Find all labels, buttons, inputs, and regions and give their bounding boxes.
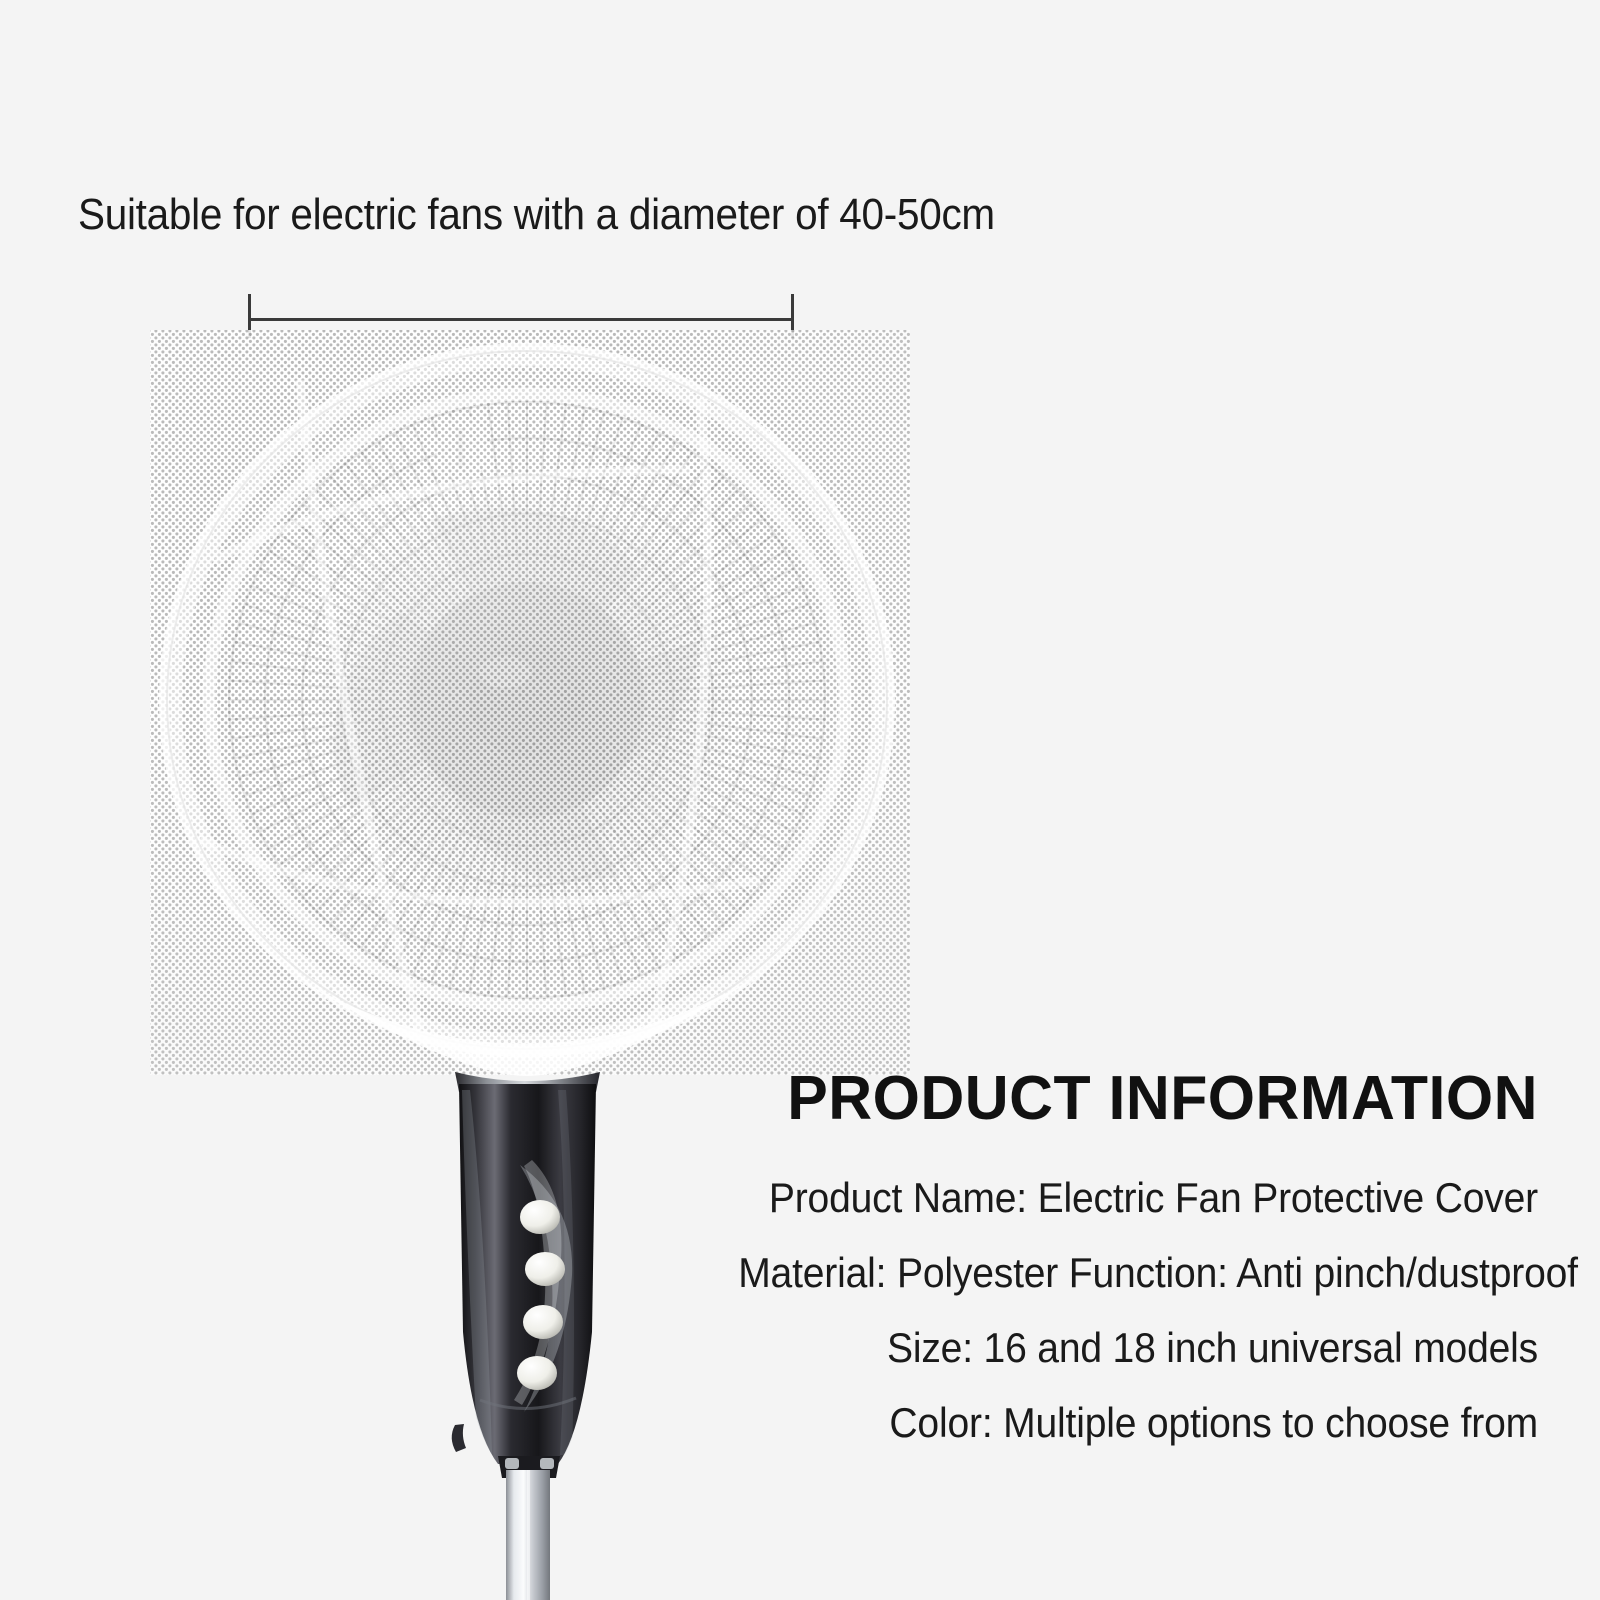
product-information-block: PRODUCT INFORMATION Product Name: Electr…	[678, 1062, 1538, 1460]
housing-stud-right	[540, 1458, 554, 1469]
bracket-tick-right	[791, 294, 794, 338]
mesh-protective-cover	[150, 330, 910, 1075]
fan-support-pole	[506, 1470, 550, 1600]
cover-hem	[300, 975, 760, 1076]
speed-button-1[interactable]	[520, 1200, 560, 1234]
bracket-line	[248, 318, 794, 321]
cover-rim	[164, 348, 890, 1052]
product-spec-list: Product Name: Electric Fan Protective Co…	[678, 1160, 1538, 1460]
product-information-heading: PRODUCT INFORMATION	[695, 1062, 1538, 1136]
housing-stud-left	[505, 1458, 519, 1469]
spec-line-color: Color: Multiple options to choose from	[738, 1385, 1538, 1460]
speed-button-3[interactable]	[523, 1305, 563, 1339]
spec-line-material-function: Material: Polyester Function: Anti pinch…	[738, 1235, 1538, 1310]
diameter-span-bracket	[248, 294, 794, 338]
speed-button-4[interactable]	[517, 1356, 557, 1390]
fan-grille	[227, 400, 827, 1000]
bracket-tick-left	[248, 294, 251, 338]
housing-collar	[455, 1072, 600, 1100]
spec-line-product-name: Product Name: Electric Fan Protective Co…	[738, 1160, 1538, 1235]
fan-motor-housing	[452, 1072, 600, 1478]
spec-line-size: Size: 16 and 18 inch universal models	[738, 1310, 1538, 1385]
cover-edge-shadow	[167, 351, 887, 1049]
speed-button-group[interactable]	[517, 1200, 565, 1390]
page-title: Suitable for electric fans with a diamet…	[78, 186, 1090, 244]
infographic-canvas: Suitable for electric fans with a diamet…	[0, 0, 1600, 1600]
speed-button-2[interactable]	[525, 1252, 565, 1286]
